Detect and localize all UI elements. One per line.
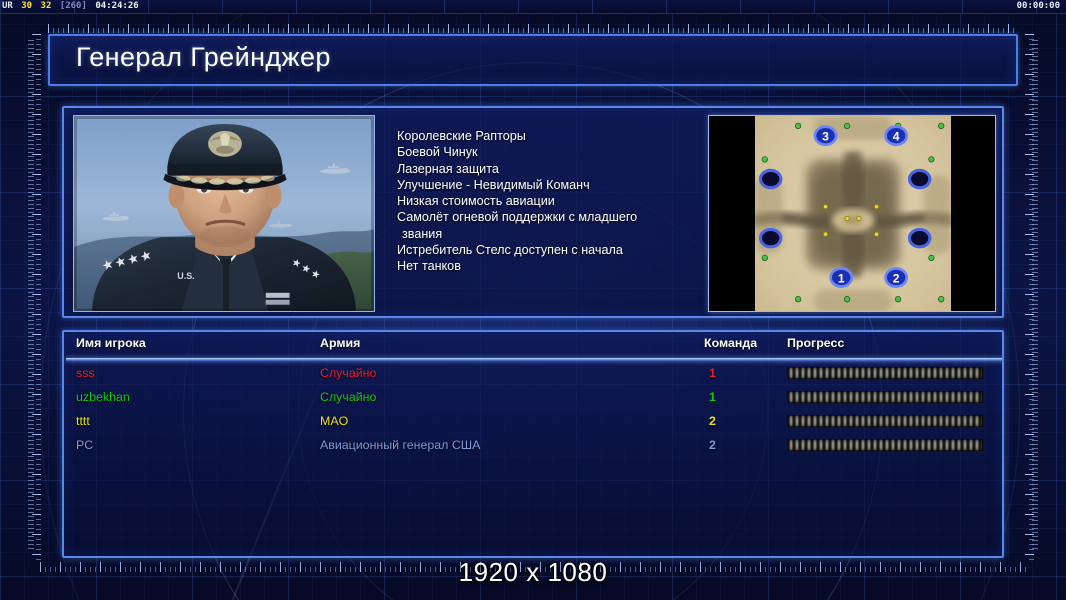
minimap-supply-dock [938,296,943,302]
ability-item: Нет танков [397,258,697,274]
game-lobby-screen: UR 30 32 [260] 04:24:26 00:00:00 Генерал… [0,0,1066,600]
ability-item-continuation: звания [397,226,697,242]
column-header-progress: Прогресс [787,336,844,350]
minimap-oil-derrick [874,232,878,236]
ability-item: Королевские Рапторы [397,128,697,144]
player-progress-bar [787,367,983,379]
minimap-start-position-label: 4 [893,129,900,143]
player-progress-bar [787,439,983,451]
roster-rows: sss Случайно 1 uzbekhan Случайно 1 tttt … [64,363,1002,459]
column-header-team: Команда [704,336,757,350]
ruler-top [48,24,1018,33]
player-army: MAO [320,414,348,428]
minimap-terrain: 1234 [755,116,951,312]
status-timer-left: 04:24:26 [95,1,138,11]
minimap-supply-dock [929,157,934,163]
status-number-1: 30 [21,1,32,11]
minimap-start-position-label: 3 [822,129,829,143]
ruler-left [32,34,41,562]
player-progress-bar [787,391,983,403]
player-army: Случайно [320,366,376,380]
table-row[interactable]: sss Случайно 1 [64,363,1002,387]
player-team: 1 [709,390,716,404]
table-row[interactable]: tttt MAO 2 [64,411,1002,435]
column-header-army: Армия [320,336,360,350]
table-row[interactable]: PC Авиационный генерал США 2 [64,435,1002,459]
minimap-oil-derrick [874,204,878,208]
right-side-rail [1032,40,1038,550]
general-info-panel: U.S. Королевские Рапторы Боевой Чинук Ла… [62,106,1004,318]
minimap-oil-derrick [823,232,827,236]
player-roster-panel: Имя игрока Армия Команда Прогресс sss Сл… [62,330,1004,558]
top-status-cells [0,0,1066,13]
ability-item: Лазерная защита [397,161,697,177]
status-label: UR [2,1,13,11]
minimap-tech-marker [909,229,929,246]
ability-item: Боевой Чинук [397,144,697,160]
ability-item: Самолёт огневой поддержки с младшего [397,209,697,225]
minimap-markers-layer: 1234 [755,116,951,312]
minimap-tech-marker [909,170,929,187]
minimap-start-position-label: 2 [893,271,900,285]
top-status-bar: UR 30 32 [260] 04:24:26 00:00:00 [0,0,1066,14]
player-name: sss [76,366,95,380]
player-name: uzbekhan [76,390,130,404]
main-frame: Генерал Грейнджер [44,34,1022,562]
status-number-2: 32 [41,1,52,11]
roster-header-divider [66,358,1004,361]
minimap-supply-dock [795,296,800,302]
player-army: Случайно [320,390,376,404]
minimap-oil-derrick [857,216,861,220]
minimap-supply-dock [844,296,849,302]
minimap-oil-derrick [845,216,849,220]
roster-header-row: Имя игрока Армия Команда Прогресс [64,336,1002,358]
status-bracket: [260] [60,1,87,11]
player-name: PC [76,438,93,452]
general-portrait-art: U.S. [74,116,374,312]
minimap-preview[interactable]: 1234 [708,115,996,312]
ability-item: Низкая стоимость авиации [397,193,697,209]
minimap-supply-dock [762,255,767,261]
ability-item: Истребитель Стелс доступен с начала [397,242,697,258]
top-status-left: UR 30 32 [260] 04:24:26 [2,1,142,11]
column-header-player-name: Имя игрока [76,336,146,350]
minimap-supply-dock [795,123,800,129]
player-progress-bar [787,415,983,427]
minimap-supply-dock [938,123,943,129]
minimap-tech-marker [760,170,780,187]
player-army: Авиационный генерал США [320,438,480,452]
minimap-start-position-label: 1 [838,271,845,285]
player-team: 2 [709,414,716,428]
resolution-overlay: 1920 x 1080 [0,557,1066,588]
minimap-supply-dock [895,296,900,302]
minimap-oil-derrick [823,204,827,208]
page-title: Генерал Грейнджер [76,42,331,73]
collar-insignia-text: U.S. [177,271,194,281]
general-ability-list: Королевские Рапторы Боевой Чинук Лазерна… [397,128,697,275]
player-team: 2 [709,438,716,452]
player-name: tttt [76,414,90,428]
minimap-supply-dock [844,123,849,129]
player-team: 1 [709,366,716,380]
ruler-right [1025,34,1034,562]
minimap-supply-dock [929,255,934,261]
left-side-rail [28,40,34,550]
ability-item: Улучшение - Невидимый Команч [397,177,697,193]
status-timer-right: 00:00:00 [1017,1,1060,11]
minimap-tech-marker [760,229,780,246]
general-title-panel: Генерал Грейнджер [48,34,1018,86]
table-row[interactable]: uzbekhan Случайно 1 [64,387,1002,411]
minimap-supply-dock [762,157,767,163]
general-portrait: U.S. [73,115,375,312]
